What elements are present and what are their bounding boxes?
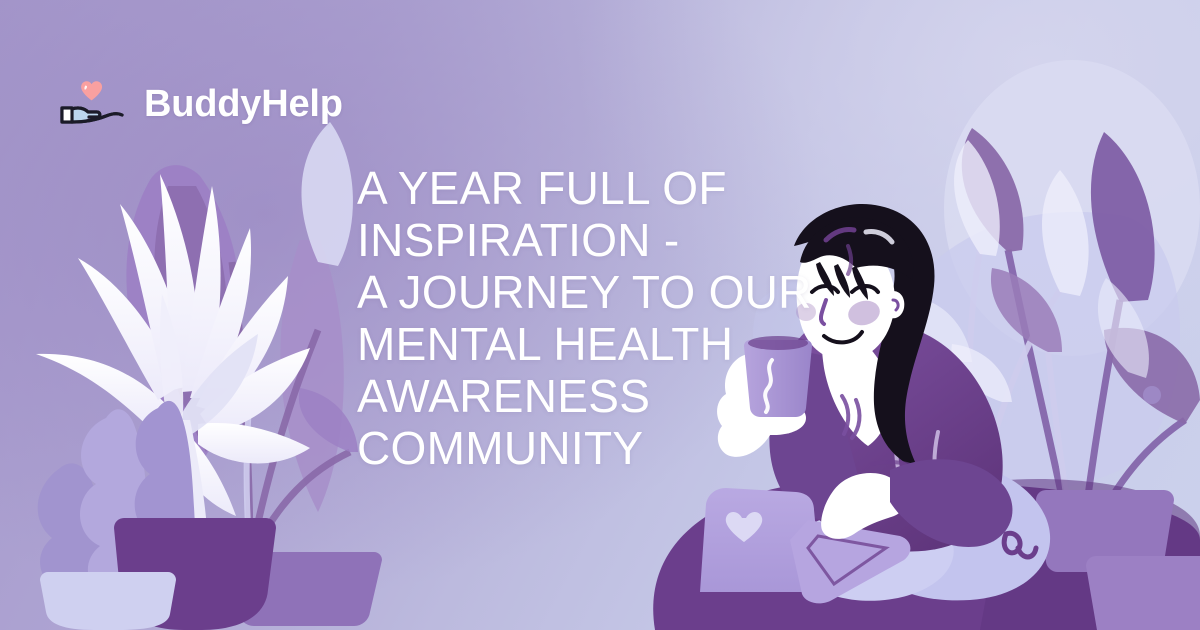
headline-line-1: A YEAR FULL OF [357,162,787,214]
brand-logo[interactable]: BuddyHelp [58,76,343,132]
small-front-pot [40,572,176,630]
headline-line-3: A JOURNEY TO OUR [357,266,787,318]
banner-hero: BuddyHelp A YEAR FULL OF INSPIRATION - A… [0,0,1200,630]
headline-line-5: AWARENESS [357,370,787,422]
headline-line-2: INSPIRATION - [357,214,787,266]
headline-line-6: COMMUNITY [357,422,787,474]
left-plant-group [36,122,382,630]
page-title: A YEAR FULL OF INSPIRATION - A JOURNEY T… [357,162,787,474]
hand-holding-heart-icon [58,76,130,132]
headline-line-4: MENTAL HEALTH [357,318,787,370]
brand-name: BuddyHelp [144,85,343,123]
